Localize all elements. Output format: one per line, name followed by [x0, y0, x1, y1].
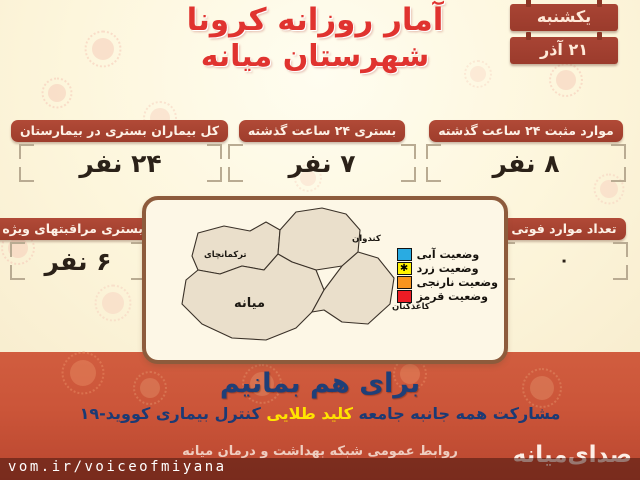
- corner-bracket-icon: [613, 265, 628, 280]
- sub-slogan-highlight: کلید طلایی: [266, 404, 353, 423]
- stat-deaths-value-box: ۰: [494, 242, 634, 280]
- legend-item-red: وضعیت قرمز: [397, 290, 498, 303]
- stat-admitted-value-box: ۷ نفر: [222, 144, 422, 182]
- legend-label-blue: وضعیت آبی: [417, 248, 480, 261]
- stat-total-hospitalized: کل بیماران بستری در بیمارستان ۲۴ نفر: [13, 120, 228, 182]
- corner-bracket-icon: [613, 242, 628, 257]
- stat-positive-value-box: ۸ نفر: [420, 144, 632, 182]
- date-day-text: ۲۱ آذر: [540, 40, 588, 59]
- stat-positive-label: موارد مثبت ۲۴ ساعت گذشته: [429, 120, 623, 142]
- legend-label-yellow: وضعیت زرد: [417, 262, 479, 275]
- date-weekday-text: یکشنبه: [537, 7, 591, 26]
- stat-admitted-value: ۷ نفر: [289, 149, 356, 178]
- pin-icon: [597, 32, 602, 40]
- corner-bracket-icon: [426, 167, 441, 182]
- map-label-kandovan: کندوان: [352, 234, 381, 244]
- page-title: آمار روزانه کرونا شهرستان میانه: [120, 2, 510, 74]
- corner-bracket-icon: [10, 265, 25, 280]
- corner-bracket-icon: [401, 167, 416, 182]
- legend-label-orange: وضعیت نارنجی: [417, 276, 498, 289]
- legend-swatch-red: [397, 290, 412, 303]
- legend-label-red: وضعیت قرمز: [417, 290, 488, 303]
- corner-bracket-icon: [426, 144, 441, 159]
- stat-icu: بستری مراقبتهای ویژه ۶ نفر: [4, 218, 152, 280]
- stat-total-label: کل بیماران بستری در بیمارستان: [11, 120, 228, 142]
- stat-icu-value-box: ۶ نفر: [4, 242, 152, 280]
- stat-total-value-box: ۲۴ نفر: [13, 144, 228, 182]
- legend-item-blue: وضعیت آبی: [397, 248, 498, 261]
- corner-bracket-icon: [611, 144, 626, 159]
- stat-positive-cases: موارد مثبت ۲۴ ساعت گذشته ۸ نفر: [420, 120, 632, 182]
- legend-item-yellow: وضعیت زرد ✱: [397, 262, 498, 275]
- stat-admitted-24h: بستری ۲۴ ساعت گذشته ۷ نفر: [222, 120, 422, 182]
- corner-bracket-icon: [207, 144, 222, 159]
- stat-deaths: تعداد موارد فوتی ۰: [494, 218, 634, 280]
- stat-deaths-value: ۰: [559, 251, 569, 271]
- date-weekday-badge: یکشنبه: [510, 4, 618, 31]
- stat-icu-label: بستری مراقبتهای ویژه: [0, 218, 152, 240]
- corner-bracket-icon: [10, 242, 25, 257]
- date-badges: یکشنبه ۲۱ آذر: [510, 4, 618, 70]
- stat-deaths-label: تعداد موارد فوتی: [502, 218, 625, 240]
- pin-icon: [526, 0, 531, 7]
- corner-bracket-icon: [228, 144, 243, 159]
- map-card: کندوان ترکمانچای میانه کاغذکنان وضعیت آب…: [142, 196, 508, 364]
- legend-swatch-yellow: ✱: [397, 262, 412, 275]
- legend-item-orange: وضعیت نارنجی: [397, 276, 498, 289]
- infographic-poster: آمار روزانه کرونا شهرستان میانه یکشنبه ۲…: [0, 0, 640, 480]
- map-label-mianeh: میانه: [234, 296, 265, 311]
- corner-bracket-icon: [19, 167, 34, 182]
- pin-icon: [597, 0, 602, 7]
- corner-bracket-icon: [19, 144, 34, 159]
- corner-bracket-icon: [401, 144, 416, 159]
- stat-admitted-label: بستری ۲۴ ساعت گذشته: [239, 120, 405, 142]
- stat-icu-value: ۶ نفر: [45, 247, 112, 276]
- pin-icon: [526, 32, 531, 40]
- main-slogan: برای هم بمانیم: [0, 368, 640, 399]
- map-label-torkamanchay: ترکمانچای: [204, 250, 247, 260]
- url-text: vom.ir/voiceofmiyana: [8, 459, 227, 475]
- map-legend: وضعیت آبی وضعیت زرد ✱ وضعیت نارنجی وضعیت…: [397, 248, 498, 304]
- date-day-badge: ۲۱ آذر: [510, 37, 618, 64]
- sub-slogan: مشارکت همه جانبه جامعه کلید طلایی کنترل …: [0, 404, 640, 423]
- sub-slogan-after: کنترل بیماری کووید-۱۹: [80, 404, 267, 423]
- stat-total-value: ۲۴ نفر: [79, 149, 161, 178]
- sub-slogan-before: مشارکت همه جانبه جامعه: [353, 404, 560, 423]
- title-line-1: آمار روزانه کرونا: [120, 2, 510, 39]
- legend-swatch-orange: [397, 276, 412, 289]
- stat-positive-value: ۸ نفر: [493, 149, 560, 178]
- title-line-2: شهرستان میانه: [120, 39, 510, 74]
- legend-swatch-blue: [397, 248, 412, 261]
- corner-bracket-icon: [207, 167, 222, 182]
- corner-bracket-icon: [228, 167, 243, 182]
- corner-bracket-icon: [611, 167, 626, 182]
- star-marker-icon: ✱: [400, 264, 408, 274]
